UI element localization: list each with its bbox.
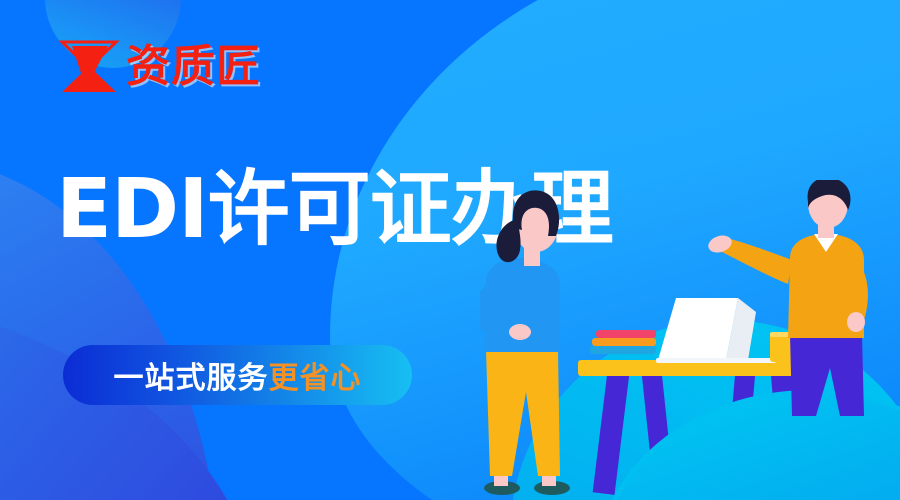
promotional-banner: 资质匠 EDI许可证办理 一站式服务更省心	[0, 0, 900, 500]
subtitle-main-text: 一站式服务	[114, 353, 269, 397]
laptop-icon	[656, 298, 776, 363]
subtitle-pill: 一站式服务更省心	[63, 345, 412, 405]
book-stack-icon	[590, 330, 656, 354]
woman-figure	[480, 190, 570, 495]
z-monogram-logo-icon	[58, 38, 120, 96]
subtitle-accent-text: 更省心	[269, 353, 362, 397]
brand-name-text: 资质匠	[126, 45, 261, 89]
illustration-scene	[480, 180, 900, 500]
brand-logo[interactable]: 资质匠	[58, 36, 261, 98]
